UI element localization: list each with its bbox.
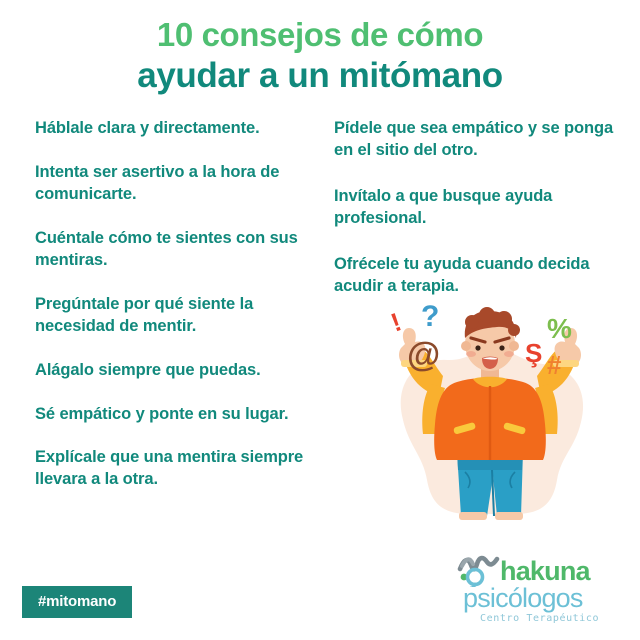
tip-item: Invítalo a que busque ayuda profesional. [334,186,616,230]
shoe-right [495,512,523,520]
tip-item: Sé empático y ponte en su lugar. [35,404,313,426]
tips-column-right: Pídele que sea empático y se ponga en el… [334,118,616,322]
symbol-at: @ [407,336,440,374]
symbol-hash: # [547,350,562,380]
shoe-left [459,512,487,520]
hair-curl-3 [496,311,512,327]
tip-item: Explícale que una mentira siempre llevar… [35,447,313,491]
symbol-percent: % [547,313,572,344]
tip-item: Alágalo siempre que puedas. [35,360,313,382]
ear-right [509,341,519,351]
ear-left [461,341,471,351]
eye-right [499,345,504,350]
title-line-1: 10 consejos de cómo [0,16,640,55]
logo-mark-icon [454,553,500,587]
tip-item: Ofrécele tu ayuda cuando decida acudir a… [334,254,616,298]
hair-curl-1 [465,315,479,329]
tip-item: Háblale clara y directamente. [35,118,313,140]
hair-curl-2 [479,307,495,323]
infographic-poster: 10 consejos de cómo ayudar a un mitómano… [0,0,640,640]
poster-title: 10 consejos de cómo ayudar a un mitómano [0,16,640,96]
hashtag-badge: #mitomano [22,586,132,618]
blush-right [504,351,514,357]
tip-item: Intenta ser asertivo a la hora de comuni… [35,162,313,206]
angry-man-illustration: ! ? @ % Ş # [365,300,615,550]
symbol-exclamation: ! [387,306,405,337]
symbol-question: ? [421,300,439,333]
logo-ring-blue [468,569,483,584]
logo-subword: psicólogos [454,584,626,612]
title-line-2: ayudar a un mitómano [0,55,640,96]
tip-item: Cuéntale cómo te sientes con sus mentira… [35,228,313,272]
symbol-s-cedilla: Ş [525,338,542,368]
tip-item: Pregúntale por qué siente la necesidad d… [35,294,313,338]
tips-column-left: Háblale clara y directamente. Intenta se… [35,118,313,513]
logo-tagline: Centro Terapéutico [454,613,626,624]
blush-left [466,351,476,357]
tip-item: Pídele que sea empático y se ponga en el… [334,118,616,162]
brand-logo: hakuna psicólogos Centro Terapéutico [454,553,626,624]
logo-wordmark: hakuna [500,558,590,585]
eye-left [475,345,480,350]
hair-curl-4 [508,324,520,336]
logo-top-row: hakuna [454,553,626,587]
